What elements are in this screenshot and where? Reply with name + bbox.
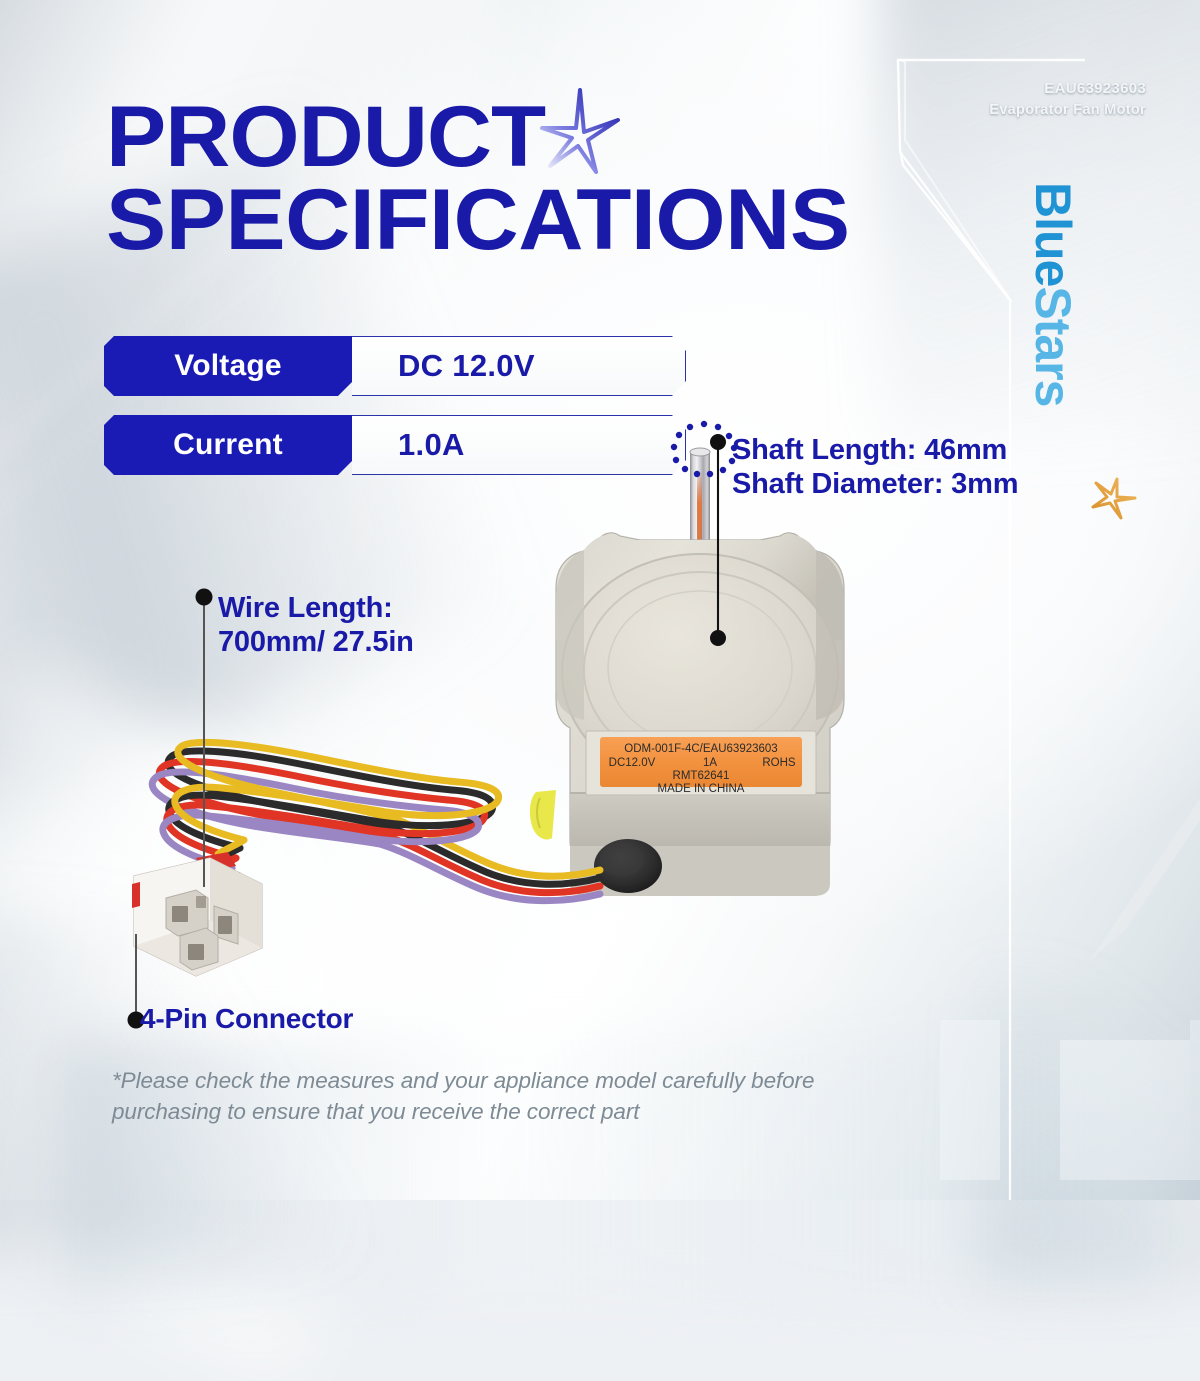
title-line-2: SPECIFICATIONS xyxy=(106,179,946,262)
spec-value-current: 1.0A xyxy=(352,415,686,475)
callout-shaft: Shaft Length: 46mm Shaft Diameter: 3mm xyxy=(732,434,1018,501)
brand-logo-stars: Stars xyxy=(1025,286,1081,406)
header-part-info: EAU63923603 Evaporator Fan Motor xyxy=(989,78,1146,121)
brand-logo-star-icon xyxy=(1086,470,1142,526)
callout-wire-value: 700mm/ 27.5in xyxy=(218,626,414,660)
title-line-1: PRODUCT xyxy=(106,89,545,185)
callout-wire-length: Wire Length: 700mm/ 27.5in xyxy=(218,592,414,659)
footnote-disclaimer: *Please check the measures and your appl… xyxy=(112,1066,872,1127)
header-product-name: Evaporator Fan Motor xyxy=(989,100,1146,121)
callout-connector: 4-Pin Connector xyxy=(140,1003,353,1035)
footnote-line-1: *Please check the measures and your appl… xyxy=(112,1066,872,1097)
brand-logo-text: BlueStars xyxy=(1028,182,1078,406)
footnote-line-2: purchasing to ensure that you receive th… xyxy=(112,1097,872,1128)
spec-value-voltage: DC 12.0V xyxy=(352,336,686,396)
spec-label-current: Current xyxy=(104,415,352,475)
bg-streak xyxy=(980,980,1200,1280)
callout-shaft-length: Shaft Length: 46mm xyxy=(732,434,1018,468)
brand-logo-blue: Blue xyxy=(1025,182,1081,286)
callout-wire-label: Wire Length: xyxy=(218,592,414,626)
header-part-number: EAU63923603 xyxy=(989,78,1146,100)
spec-label-voltage: Voltage xyxy=(104,336,352,396)
star-accent-icon xyxy=(524,76,634,186)
brand-logo: BlueStars xyxy=(1078,182,1140,512)
callout-shaft-diameter: Shaft Diameter: 3mm xyxy=(732,468,1018,502)
